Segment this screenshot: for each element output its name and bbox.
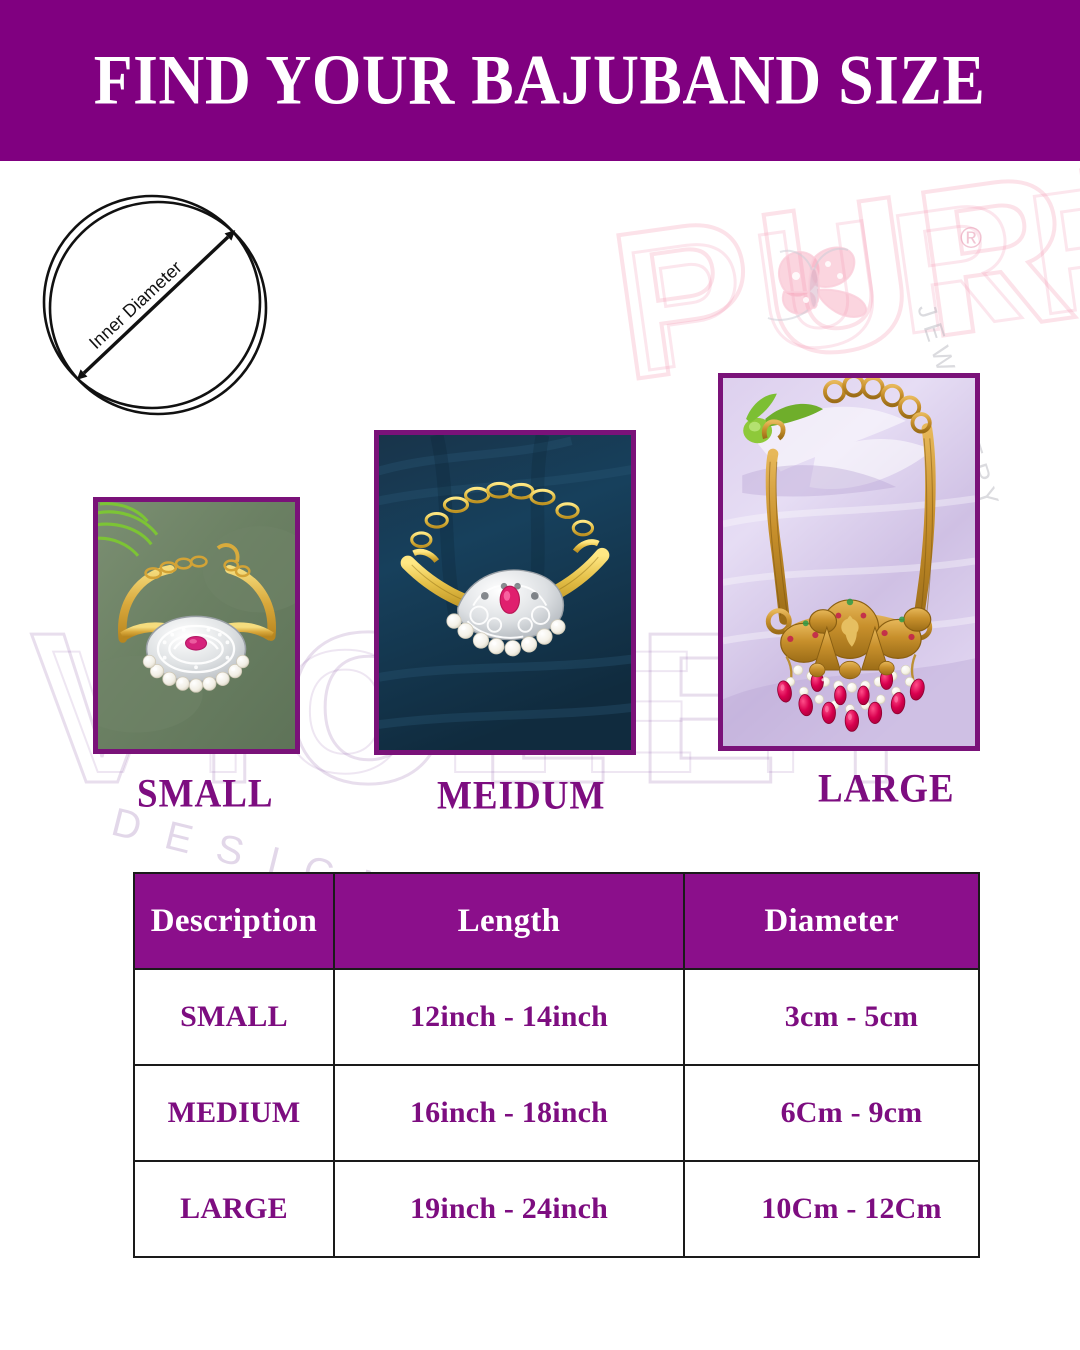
cell-diameter-large: 10Cm - 12Cm xyxy=(684,1161,979,1257)
cell-length-small: 12inch - 14inch xyxy=(334,969,684,1065)
large-bajuband-photo xyxy=(723,378,975,746)
table-row: MEDIUM 16inch - 18inch 6Cm - 9cm xyxy=(134,1065,979,1161)
size-guide-page: PURPLE PURPLE ® JEWELLERY VIOLET xyxy=(0,0,1080,1350)
cell-diameter-medium: 6Cm - 9cm xyxy=(684,1065,979,1161)
header-banner: FIND YOUR BAJUBAND SIZE xyxy=(0,0,1080,161)
page-title: FIND YOUR BAJUBAND SIZE xyxy=(94,40,986,121)
table-row: SMALL 12inch - 14inch 3cm - 5cm xyxy=(134,969,979,1065)
inner-diameter-label: Inner Diameter xyxy=(85,257,186,353)
inner-diameter-diagram: Inner Diameter xyxy=(34,190,284,420)
column-header-length: Length xyxy=(334,873,684,969)
product-label-medium: MEIDUM xyxy=(437,772,605,819)
table-row: LARGE 19inch - 24inch 10Cm - 12Cm xyxy=(134,1161,979,1257)
cell-description-large: LARGE xyxy=(134,1161,334,1257)
cell-length-medium: 16inch - 18inch xyxy=(334,1065,684,1161)
column-header-description: Description xyxy=(134,873,334,969)
small-bajuband-photo xyxy=(98,502,295,749)
cell-length-large: 19inch - 24inch xyxy=(334,1161,684,1257)
product-image-frame-medium xyxy=(374,430,636,755)
size-chart-table: Description Length Diameter SMALL 12inch… xyxy=(133,872,980,1258)
product-card-medium[interactable] xyxy=(374,430,636,755)
cell-description-small: SMALL xyxy=(134,969,334,1065)
product-image-frame-large xyxy=(718,373,980,751)
medium-bajuband-photo xyxy=(379,435,631,750)
table-header-row: Description Length Diameter xyxy=(134,873,979,969)
butterfly-icon xyxy=(762,238,912,353)
product-card-small[interactable] xyxy=(93,497,300,754)
product-image-frame-small xyxy=(93,497,300,754)
cell-description-medium: MEDIUM xyxy=(134,1065,334,1161)
product-card-large[interactable] xyxy=(718,373,980,751)
product-label-large: LARGE xyxy=(818,765,955,812)
cell-diameter-small: 3cm - 5cm xyxy=(684,969,979,1065)
registered-trademark-icon: ® xyxy=(960,222,982,256)
watermark-purple-inner: PURPLE xyxy=(618,119,1080,398)
product-label-small: SMALL xyxy=(137,770,274,817)
column-header-diameter: Diameter xyxy=(684,873,979,969)
